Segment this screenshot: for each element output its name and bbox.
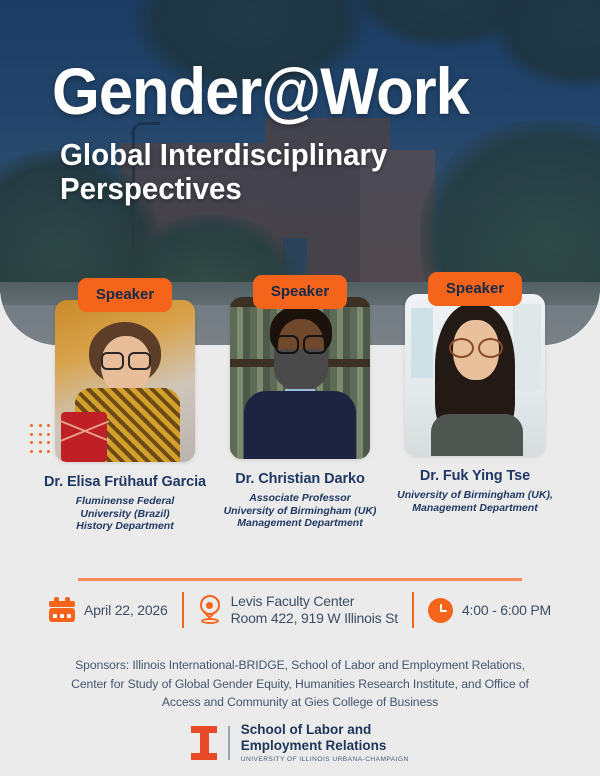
horizontal-divider	[78, 578, 522, 581]
speaker-name: Dr. Christian Darko	[222, 471, 378, 488]
speaker-card-3: Speaker Dr. Fuk Ying Tse University of B…	[382, 272, 568, 514]
speaker-photo-2	[230, 297, 370, 459]
event-poster: Gender@Work Global Interdisciplinary Per…	[0, 0, 600, 776]
block-i-icon	[191, 726, 217, 760]
event-location-line1: Levis Faculty Center	[231, 593, 398, 610]
event-time-text: 4:00 - 6:00 PM	[462, 602, 551, 619]
sponsors-line-3: Access and Community at Gies College of …	[40, 693, 560, 712]
event-location: Levis Faculty Center Room 422, 919 W Ill…	[184, 593, 412, 627]
event-details-row: April 22, 2026 Levis Faculty Center Room…	[0, 592, 600, 628]
logo-text: School of Labor and Employment Relations…	[241, 722, 409, 763]
speaker-name: Dr. Fuk Ying Tse	[382, 468, 568, 485]
clock-icon	[428, 598, 453, 623]
event-date: April 22, 2026	[35, 597, 182, 623]
speaker-affiliation-line: History Department	[24, 520, 226, 533]
event-location-text: Levis Faculty Center Room 422, 919 W Ill…	[231, 593, 398, 627]
speaker-affiliation-line: University (Brazil)	[24, 508, 226, 521]
page-title: Gender@Work	[52, 58, 562, 124]
speaker-affiliation-line: Associate Professor	[222, 492, 378, 505]
institution-logo: School of Labor and Employment Relations…	[0, 722, 600, 763]
speaker-affiliation: University of Birmingham (UK), Managemen…	[382, 489, 568, 514]
speaker-affiliation-line: University of Birmingham (UK)	[222, 505, 378, 518]
hero-text-block: Gender@Work Global Interdisciplinary Per…	[0, 58, 600, 206]
calendar-icon	[49, 597, 75, 623]
logo-line-1: School of Labor and	[241, 722, 409, 738]
speaker-card-1: Speaker Dr. Elisa Frühauf Garcia Flumine…	[24, 278, 226, 533]
logo-line-3: UNIVERSITY OF ILLINOIS URBANA-CHAMPAIGN	[241, 756, 409, 763]
page-subtitle: Global Interdisciplinary Perspectives	[60, 138, 573, 206]
sponsors-line-2: Center for Study of Global Gender Equity…	[40, 675, 560, 694]
sponsors-line-1: Sponsors: Illinois International-BRIDGE,…	[40, 656, 560, 675]
speaker-photo-1	[55, 300, 195, 462]
sponsors-text: Sponsors: Illinois International-BRIDGE,…	[40, 656, 560, 712]
location-pin-icon	[198, 595, 222, 625]
speaker-badge: Speaker	[78, 278, 172, 312]
speaker-affiliation-line: University of Birmingham (UK),	[382, 489, 568, 502]
speaker-badge: Speaker	[428, 272, 522, 306]
speaker-affiliation: Fluminense Federal University (Brazil) H…	[24, 495, 226, 533]
speaker-affiliation-line: Fluminense Federal	[24, 495, 226, 508]
speaker-photo-3	[405, 294, 545, 456]
speaker-name: Dr. Elisa Frühauf Garcia	[24, 474, 226, 491]
speaker-card-2: Speaker Dr. Christian Darko Associate Pr…	[222, 275, 378, 530]
logo-divider	[228, 726, 230, 760]
event-date-text: April 22, 2026	[84, 602, 168, 619]
speaker-affiliation-line: Management Department	[382, 502, 568, 515]
speaker-affiliation-line: Management Department	[222, 517, 378, 530]
logo-line-2: Employment Relations	[241, 738, 409, 754]
event-location-line2: Room 422, 919 W Illinois St	[231, 610, 398, 627]
speaker-affiliation: Associate Professor University of Birmin…	[222, 492, 378, 530]
event-time: 4:00 - 6:00 PM	[414, 598, 565, 623]
speaker-badge: Speaker	[253, 275, 347, 309]
